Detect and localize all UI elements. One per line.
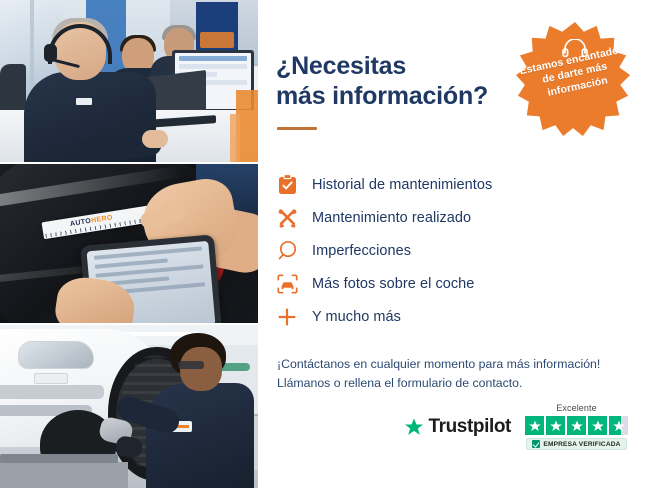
star-filled [567,416,586,435]
promo-banner: AUTOHERO [0,0,650,488]
mechanic-head [180,347,222,391]
feature-label: Mantenimiento realizado [312,210,471,226]
trustpilot-stars [525,416,628,435]
mechanic-torso [146,383,254,488]
star-filled [546,416,565,435]
verified-company-badge: EMPRESA VERIFICADA [526,438,626,450]
star-partial [609,416,628,435]
agent-hand [142,130,168,148]
star-filled [588,416,607,435]
photo-call-center-agents-with-headsets [0,0,258,162]
tablet-row [95,258,168,268]
feature-item-maintenance-history[interactable]: Historial de mantenimientos [276,168,626,201]
check-icon [532,440,540,448]
mechanic [146,333,254,488]
feature-label: Más fotos sobre el coche [312,276,474,292]
car-grille [0,385,104,399]
content-panel: ¿Necesitas más información? Estamos enca… [258,0,650,488]
verified-label: EMPRESA VERIFICADA [543,441,620,448]
safety-glasses [178,361,204,369]
contact-text: ¡Contáctanos en cualquier momento para m… [277,355,626,394]
feature-label: Historial de mantenimientos [312,177,492,193]
photo-vehicle-inspection-ruler-tablet: AUTOHERO [0,162,258,324]
clipboard-check-icon [276,174,298,196]
help-badge: Estamos encantados de darte más informac… [516,20,634,138]
tablet-row [94,246,202,259]
trustpilot-score-block: Excelente [525,403,628,450]
title-underline-accent [277,127,317,130]
car-headlight [18,341,94,369]
headline-line-2: más información? [276,82,488,110]
star-filled [525,416,544,435]
trustpilot-wordmark: Trustpilot [428,416,511,438]
car-lift [0,462,128,488]
contact-line-2: Llámanos o rellena el formulario de cont… [277,374,626,393]
feature-label: Y mucho más [312,309,401,325]
contact-line-1: ¡Contáctanos en cualquier momento para m… [277,355,626,374]
feature-list: Historial de mantenimientos M [276,168,626,333]
feature-item-more-photos[interactable]: Más fotos sobre el coche [276,267,626,300]
license-plate [34,373,68,384]
trustpilot-logo: Trustpilot [404,416,511,438]
screen-row [179,64,247,69]
agent-name-badge [76,98,92,105]
crossed-tools-icon [276,207,298,229]
feature-item-much-more[interactable]: Y mucho más [276,300,626,333]
feature-item-imperfections[interactable]: Imperfecciones [276,234,626,267]
trustpilot-star-icon [404,417,424,437]
plus-icon [276,306,298,328]
car-photo-frame-icon [276,273,298,295]
magnifier-icon [276,240,298,262]
photo-column: AUTOHERO [0,0,258,488]
photo-mechanic-inspecting-wheel [0,323,258,488]
trustpilot-rating-label: Excelente [556,403,596,413]
screen-row [179,56,247,61]
front-agent [24,22,156,162]
trustpilot-rating[interactable]: Trustpilot Excelente [404,403,628,450]
feature-item-maintenance-done[interactable]: Mantenimiento realizado [276,201,626,234]
orange-equipment [230,114,240,162]
page-title: ¿Necesitas más información? [276,52,526,111]
headline-line-1: ¿Necesitas [276,52,406,80]
feature-label: Imperfecciones [312,243,411,259]
